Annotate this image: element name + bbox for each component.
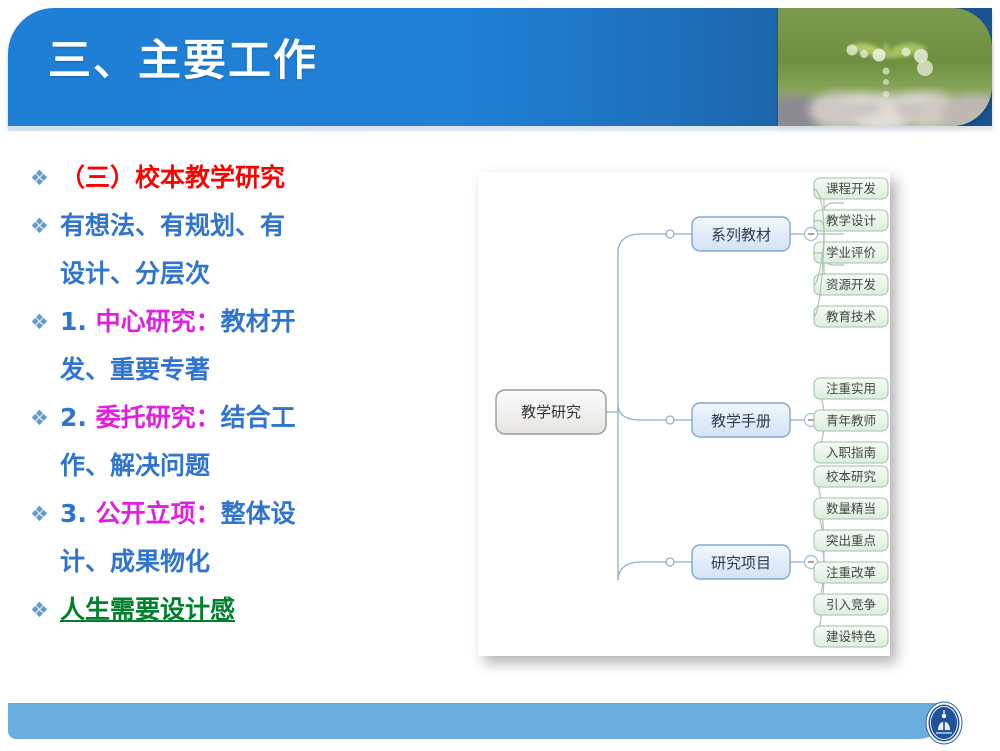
bullet-text: 有想法、有规划、有 (60, 204, 430, 248)
bullet-text: 3. 公开立项：整体设 (60, 492, 430, 536)
bullet-diamond-icon: ❖ (30, 396, 60, 440)
bullet-text: 发、重要专著 (60, 348, 430, 392)
mindmap-leaf-label: 校本研究 (826, 469, 877, 484)
node-connector-dot (666, 558, 674, 566)
bullet-number: 1. (60, 307, 96, 336)
mindmap-leaf-node[interactable]: 资源开发 (814, 274, 888, 295)
bullet-rest: 整体设 (221, 499, 296, 528)
mindmap-leaf-label: 突出重点 (826, 533, 876, 548)
mindmap-leaf-label: 入职指南 (826, 445, 876, 460)
header-divider (8, 126, 992, 131)
mindmap-leaf-node[interactable]: 校本研究 (814, 466, 888, 487)
bullet-text: 设计、分层次 (60, 252, 430, 296)
mindmap-leaf-label: 注重实用 (826, 381, 876, 396)
bullet-number: 2. (60, 403, 96, 432)
footer-bar (8, 703, 948, 739)
mindmap-leaf-label: 资源开发 (826, 277, 877, 292)
list-item: ❖ 1. 中心研究：教材开 (30, 300, 430, 344)
list-item-continuation: 计、成果物化 (30, 540, 430, 584)
bullet-keyword: 中心研究： (96, 307, 221, 336)
mindmap-branch-node-1[interactable]: 系列教材 (692, 217, 790, 251)
mindmap-root-label: 教学研究 (521, 403, 581, 421)
mindmap-leaf-node[interactable]: 教育技术 (814, 306, 888, 327)
mindmap-branch-node-3[interactable]: 研究项目 (692, 545, 790, 579)
bullet-rest: 结合工 (221, 403, 296, 432)
list-item: ❖ 3. 公开立项：整体设 (30, 492, 430, 536)
mindmap-panel: 教学研究 系列教材 课程开发 教学设计 (478, 172, 890, 656)
mindmap-leaf-node[interactable]: 注重改革 (814, 562, 888, 583)
node-connector-dot (666, 416, 674, 424)
mindmap-leaf-label: 青年教师 (826, 413, 876, 428)
node-connector-dot (666, 230, 674, 238)
bullet-diamond-icon: ❖ (30, 492, 60, 536)
bullet-diamond-icon: ❖ (30, 588, 60, 632)
list-item-continuation: 设计、分层次 (30, 252, 430, 296)
mindmap-leaf-label: 引入竞争 (826, 597, 876, 612)
mindmap-leaf-node[interactable]: 引入竞争 (814, 594, 888, 615)
list-item: ❖ 人生需要设计感 (30, 588, 430, 632)
mindmap-leaf-label: 数量精当 (826, 501, 876, 516)
mindmap-leaf-node[interactable]: 学业评价 (814, 242, 888, 263)
mindmap-leaf-label: 学业评价 (826, 245, 877, 260)
bullet-list: ❖ （三）校本教学研究 ❖ 有想法、有规划、有 设计、分层次 ❖ 1. 中心研究… (30, 156, 430, 636)
mindmap-leaf-label: 教育技术 (826, 309, 877, 324)
list-item: ❖ （三）校本教学研究 (30, 156, 430, 200)
mindmap-branch-node-2[interactable]: 教学手册 (692, 403, 790, 437)
mindmap-branch-label: 教学手册 (711, 412, 771, 430)
bullet-text: 1. 中心研究：教材开 (60, 300, 430, 344)
header-decorative-photo (778, 8, 992, 126)
bullet-keyword: 公开立项： (96, 499, 221, 528)
bullet-keyword: 委托研究： (96, 403, 221, 432)
list-item-continuation: 作、解决问题 (30, 444, 430, 488)
bullet-text: 2. 委托研究：结合工 (60, 396, 430, 440)
mindmap-leaf-node[interactable]: 数量精当 (814, 498, 888, 519)
mindmap-root-node[interactable]: 教学研究 (496, 390, 606, 434)
mindmap-branch-label: 研究项目 (711, 554, 771, 572)
bullet-rest: 教材开 (221, 307, 296, 336)
list-item-continuation: 发、重要专著 (30, 348, 430, 392)
bullet-text: 计、成果物化 (60, 540, 430, 584)
page-title: 三、主要工作 (48, 38, 318, 85)
bullet-text: 作、解决问题 (60, 444, 430, 488)
bullet-number: 3. (60, 499, 96, 528)
mindmap-leaf-label: 教学设计 (826, 213, 876, 228)
list-item: ❖ 2. 委托研究：结合工 (30, 396, 430, 440)
bullet-diamond-icon: ❖ (30, 204, 60, 248)
mindmap-leaf-node[interactable]: 入职指南 (814, 442, 888, 463)
mindmap-leaf-node[interactable]: 青年教师 (814, 410, 888, 431)
bullet-diamond-icon: ❖ (30, 300, 60, 344)
mindmap-leaf-label: 建设特色 (826, 629, 877, 644)
university-seal-logo (923, 700, 965, 746)
mindmap-branch-label: 系列教材 (711, 226, 771, 244)
mindmap-leaf-node[interactable]: 注重实用 (814, 378, 888, 399)
mindmap-leaf-node[interactable]: 教学设计 (814, 210, 888, 231)
list-item: ❖ 有想法、有规划、有 (30, 204, 430, 248)
bullet-text: （三）校本教学研究 (60, 156, 430, 200)
mindmap-leaf-node[interactable]: 建设特色 (814, 626, 888, 647)
bullet-text: 人生需要设计感 (60, 588, 430, 632)
bullet-diamond-icon: ❖ (30, 156, 60, 200)
mindmap-leaf-label: 注重改革 (826, 565, 876, 580)
mindmap-leaf-node[interactable]: 突出重点 (814, 530, 888, 551)
